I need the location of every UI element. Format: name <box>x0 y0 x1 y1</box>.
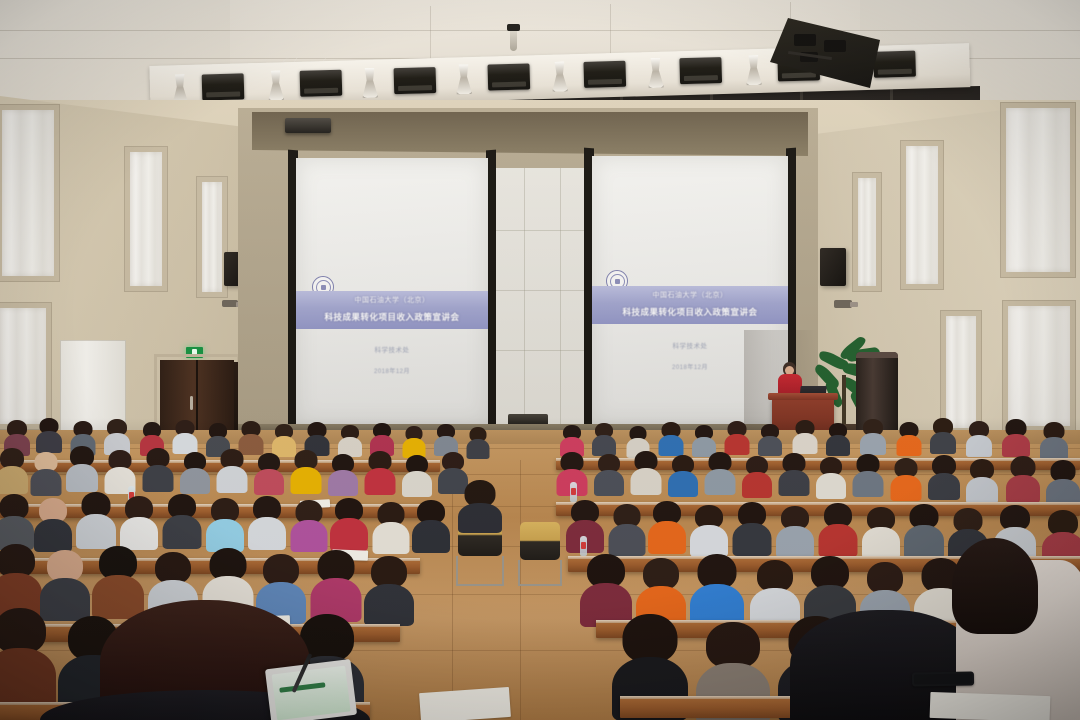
acoustic-panel <box>852 172 882 292</box>
audience-member <box>402 455 432 495</box>
audience-member <box>608 504 645 554</box>
acoustic-panel <box>1002 300 1076 432</box>
slide-line-title: 科技成果转化项目收入政策宣讲会 <box>296 311 488 323</box>
smartphone-on-desk[interactable] <box>912 671 974 686</box>
handout-paper <box>419 687 511 720</box>
security-camera <box>222 300 238 307</box>
audience-member <box>0 448 28 492</box>
audience-member <box>142 448 173 491</box>
audience-member <box>330 498 368 549</box>
audience-member <box>668 455 698 495</box>
audience-member <box>76 492 116 547</box>
audience-member <box>966 459 998 501</box>
audience-member <box>162 494 201 547</box>
audience-member <box>1046 460 1080 504</box>
ceiling-projector <box>285 118 331 133</box>
audience-member <box>904 504 944 557</box>
acoustic-panel <box>0 302 52 430</box>
water-bottle <box>580 536 587 556</box>
audience-member <box>792 420 817 453</box>
foreground-attendee-right-hair <box>952 538 1038 634</box>
slide-line-university: 中国石油大学（北京） <box>296 295 488 305</box>
audience-member <box>364 451 395 493</box>
lecture-hall-photo: 中国石油大学（北京） 科技成果转化项目收入政策宣讲会 科学技术处 2018年12… <box>0 0 1080 720</box>
audience-member <box>372 502 409 552</box>
acoustic-panel <box>1000 102 1076 278</box>
audience-member <box>592 423 616 455</box>
audience-member <box>180 452 210 493</box>
chair-legs <box>518 560 562 586</box>
audience-member <box>172 420 197 453</box>
security-camera <box>834 300 852 308</box>
audience-member <box>776 506 814 556</box>
audience-member <box>34 498 72 550</box>
handout-paper <box>930 692 1051 720</box>
audience-member <box>290 500 327 550</box>
audience-member <box>402 426 425 456</box>
audience-member <box>758 424 782 455</box>
audience-member <box>254 453 284 493</box>
acoustic-panel <box>940 310 982 434</box>
audience-member <box>826 423 850 455</box>
audience-member <box>1040 422 1068 458</box>
slide-left: 中国石油大学（北京） 科技成果转化项目收入政策宣讲会 科学技术处 2018年12… <box>296 158 488 424</box>
pendant-lamp <box>507 24 520 54</box>
tablet-device[interactable] <box>265 659 357 720</box>
audience-member <box>816 457 846 497</box>
audience-member <box>338 425 362 456</box>
audience-member <box>930 418 956 452</box>
audience-member <box>206 498 244 550</box>
left-projection-screen[interactable]: 中国石油大学（北京） 科技成果转化项目收入政策宣讲会 科学技术处 2018年12… <box>296 158 488 424</box>
audience-member <box>928 455 960 497</box>
audience-member <box>658 422 683 454</box>
audience-member <box>310 550 361 619</box>
audience-member <box>724 421 749 454</box>
chair-legs <box>456 556 504 586</box>
audience-member <box>290 450 321 492</box>
audience-member <box>328 454 358 494</box>
audience-member <box>704 452 735 493</box>
audience-member <box>466 427 489 457</box>
slide-line-title: 科技成果转化项目收入政策宣讲会 <box>592 306 788 318</box>
acoustic-panel <box>0 104 60 282</box>
audience-member <box>630 451 661 493</box>
audience-member <box>690 554 744 626</box>
audience-member <box>1002 419 1030 455</box>
audience-member <box>594 454 624 495</box>
audience-member <box>890 458 921 499</box>
audience-member <box>860 419 886 453</box>
audience-member <box>896 422 921 455</box>
wall-grid-panel <box>490 168 598 424</box>
audience-member <box>648 501 686 552</box>
audience-member <box>364 556 414 623</box>
audience-member <box>818 503 857 555</box>
audience-member <box>852 454 883 495</box>
audience-member <box>966 421 992 455</box>
audience-member <box>690 505 728 555</box>
audience-member <box>104 419 130 453</box>
audience-member <box>0 544 42 614</box>
audience-member <box>412 500 450 551</box>
audience-member <box>30 452 61 494</box>
water-bottle <box>570 482 577 502</box>
audience-member <box>742 456 772 496</box>
audience-member <box>66 446 98 490</box>
wall-mounted-loudspeaker <box>820 248 846 286</box>
audience-member <box>862 507 900 557</box>
audience-member <box>458 480 502 528</box>
yellow-back-chair[interactable] <box>520 522 560 560</box>
slide-line-date: 2018年12月 <box>296 366 488 375</box>
audience-member <box>732 502 771 554</box>
audience-member <box>36 418 62 452</box>
slide-line-university: 中国石油大学（北京） <box>592 290 788 300</box>
slide-line-department: 科学技术处 <box>296 344 488 354</box>
audience-member <box>434 424 458 455</box>
audience-member <box>0 608 56 704</box>
audience-member <box>216 449 247 491</box>
audience-member <box>120 496 158 548</box>
audience-member <box>778 453 809 494</box>
audience-member <box>1006 456 1040 500</box>
acoustic-panel <box>124 146 168 292</box>
acoustic-panel <box>900 140 944 290</box>
audience-member <box>248 496 286 548</box>
audience-member <box>0 494 34 548</box>
audience-member <box>92 546 144 616</box>
